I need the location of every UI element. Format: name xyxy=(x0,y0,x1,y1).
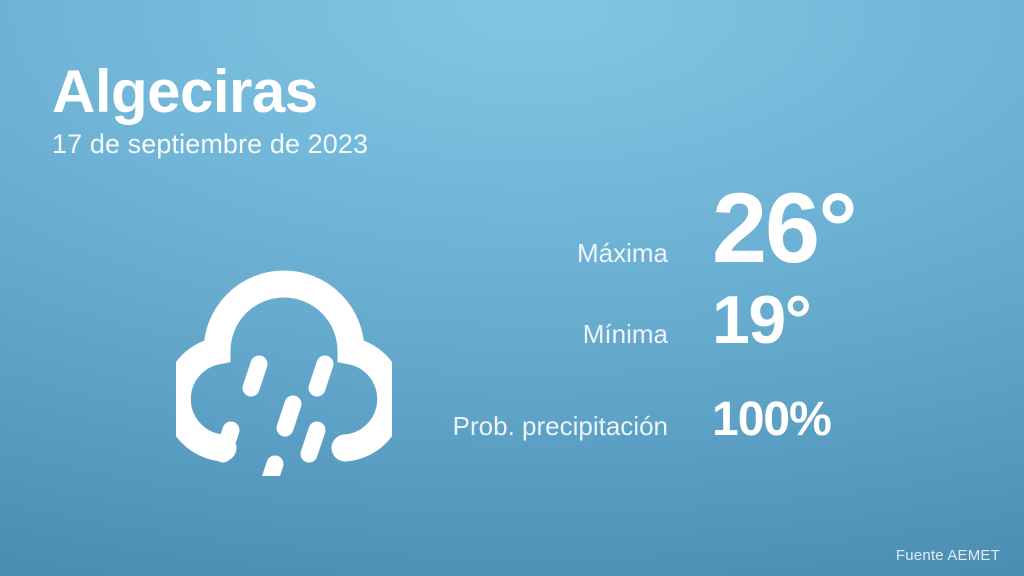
reading-value-precipitacion: 100% xyxy=(668,396,964,444)
raindrops xyxy=(223,364,325,476)
source-attribution: Fuente AEMET xyxy=(896,547,1000,564)
header: Algeciras 17 de septiembre de 2023 xyxy=(52,62,612,158)
reading-value-minima: 19° xyxy=(668,286,964,354)
raindrop xyxy=(309,430,317,454)
raindrop xyxy=(223,430,231,454)
page-title: Algeciras xyxy=(52,62,612,122)
reading-row-precipitacion: Prob. precipitación 100% xyxy=(404,396,964,466)
rain-cloud-icon xyxy=(176,252,392,476)
raindrop xyxy=(285,404,293,428)
raindrop xyxy=(251,364,259,388)
raindrop xyxy=(267,464,275,476)
forecast-date: 17 de septiembre de 2023 xyxy=(52,131,612,158)
readings-list: Máxima 26° Mínima 19° Prob. precipitació… xyxy=(404,178,964,466)
reading-label-minima: Mínima xyxy=(404,321,668,347)
reading-row-maxima: Máxima 26° xyxy=(404,178,964,286)
reading-row-minima: Mínima 19° xyxy=(404,286,964,396)
raindrop xyxy=(317,364,325,388)
rain-cloud-icon-graphic xyxy=(176,252,392,476)
weather-card: Algeciras 17 de septiembre de 2023 Máxim… xyxy=(0,0,1024,576)
reading-value-maxima: 26° xyxy=(668,178,964,277)
reading-label-maxima: Máxima xyxy=(404,240,668,266)
reading-label-precipitacion: Prob. precipitación xyxy=(404,413,668,439)
